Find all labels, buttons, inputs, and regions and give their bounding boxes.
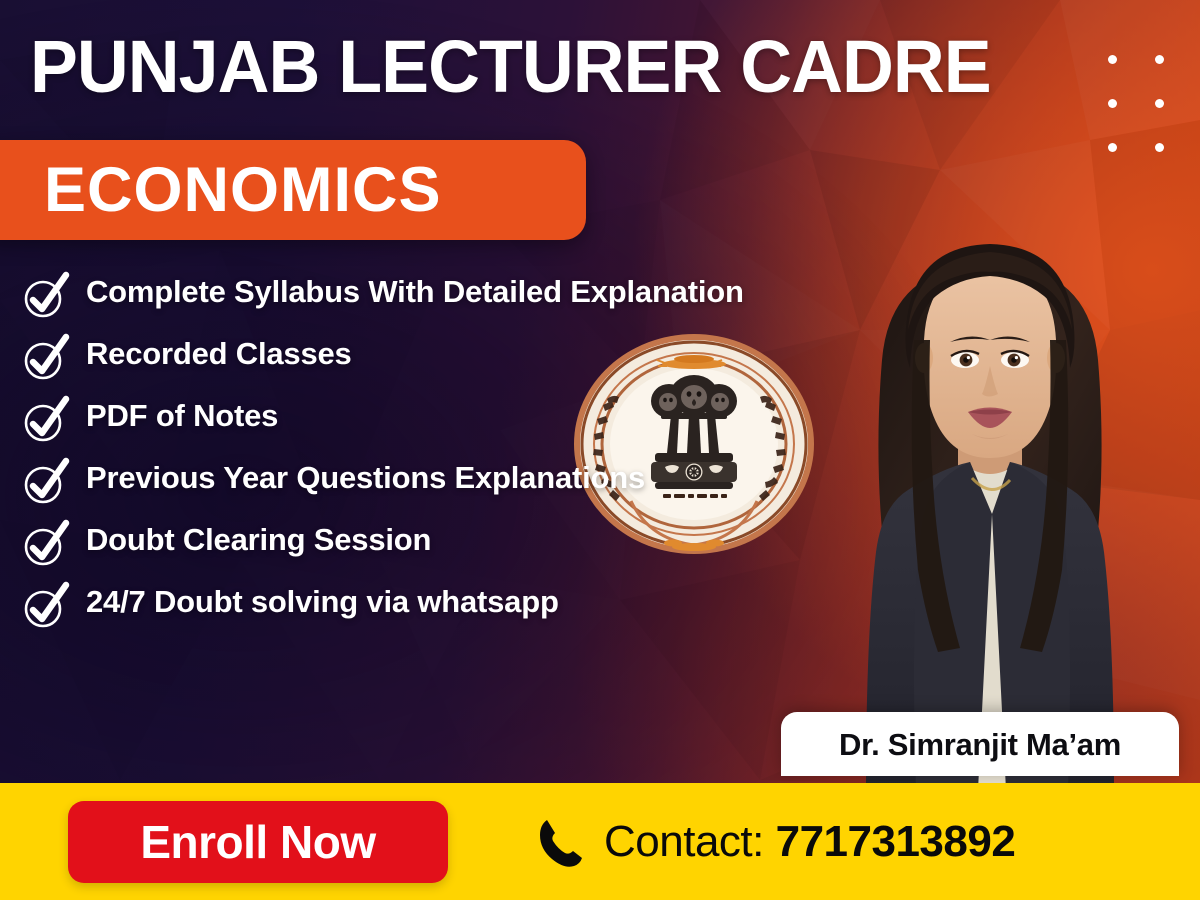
instructor-photo (790, 190, 1200, 790)
decor-dot (1155, 55, 1164, 64)
decor-dot (1155, 99, 1164, 108)
enroll-now-button[interactable]: Enroll Now (68, 801, 448, 883)
phone-icon (538, 817, 584, 867)
check-circle-icon (22, 522, 68, 568)
check-circle-icon (22, 398, 68, 444)
decor-dot (1155, 143, 1164, 152)
subject-badge: ECONOMICS (0, 140, 586, 240)
list-item: Doubt Clearing Session (22, 520, 782, 568)
cta-bar: Enroll Now Contact: 7717313892 (0, 783, 1200, 900)
contact-number: 7717313892 (776, 817, 1016, 866)
list-item-label: Recorded Classes (86, 334, 352, 374)
decor-dot (1108, 55, 1117, 64)
check-circle-icon (22, 584, 68, 630)
poster-canvas: PUNJAB LECTURER CADRE ECONOMICS (0, 0, 1200, 900)
list-item: Recorded Classes (22, 334, 782, 382)
list-item: PDF of Notes (22, 396, 782, 444)
instructor-name-plate: Dr. Simranjit Ma’am (781, 712, 1179, 776)
decor-dot (1108, 99, 1117, 108)
list-item: Complete Syllabus With Detailed Explanat… (22, 272, 782, 320)
contact-text: Contact: 7717313892 (604, 820, 1015, 864)
list-item-label: PDF of Notes (86, 396, 278, 436)
instructor-name-label: Dr. Simranjit Ma’am (839, 729, 1121, 760)
check-circle-icon (22, 460, 68, 506)
decor-dot (1108, 143, 1117, 152)
contact-label: Contact: (604, 817, 764, 866)
check-circle-icon (22, 274, 68, 320)
list-item: 24/7 Doubt solving via whatsapp (22, 582, 782, 630)
check-circle-icon (22, 336, 68, 382)
poster-headline: PUNJAB LECTURER CADRE (30, 26, 1058, 108)
feature-list: Complete Syllabus With Detailed Explanat… (22, 272, 782, 644)
list-item: Previous Year Questions Explanations (22, 458, 782, 506)
list-item-label: Doubt Clearing Session (86, 520, 431, 560)
subject-badge-label: ECONOMICS (0, 159, 442, 222)
list-item-label: Previous Year Questions Explanations (86, 458, 645, 498)
list-item-label: Complete Syllabus With Detailed Explanat… (86, 272, 744, 312)
contact-group[interactable]: Contact: 7717313892 (538, 817, 1015, 867)
list-item-label: 24/7 Doubt solving via whatsapp (86, 582, 559, 622)
dot-grid-decoration (1108, 55, 1200, 152)
